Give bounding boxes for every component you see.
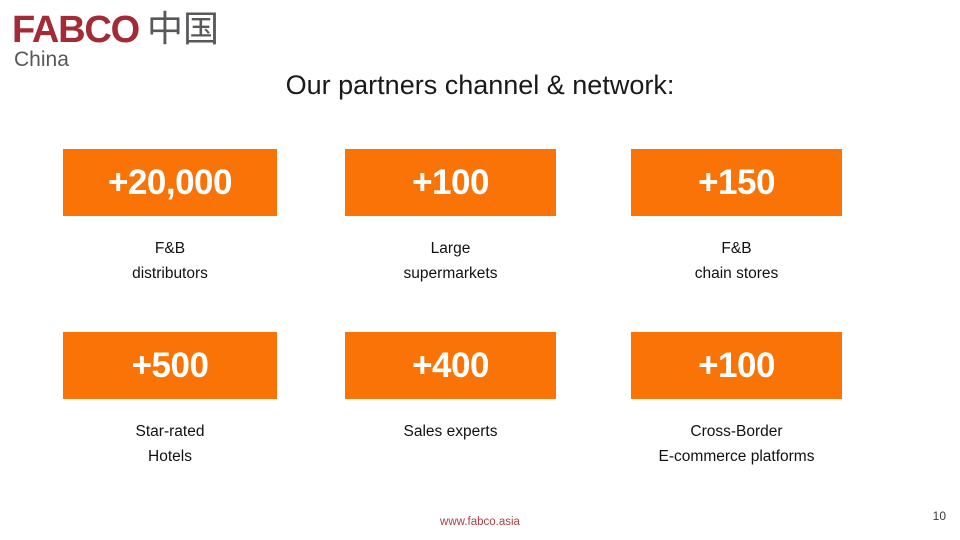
stat-value: +400: [412, 348, 489, 383]
slide-title: Our partners channel & network:: [0, 68, 960, 102]
stat-value: +150: [698, 165, 775, 200]
stat-value-box: +100: [631, 332, 842, 399]
logo-primary-row: FABCO 中国: [12, 10, 242, 50]
stat-value-box: +100: [345, 149, 556, 216]
footer-website-url[interactable]: www.fabco.asia: [0, 515, 960, 529]
stat-card: +400 Sales experts: [345, 332, 556, 444]
stat-card: +20,000 F&B distributors: [63, 149, 277, 286]
stat-value: +100: [698, 348, 775, 383]
stat-value: +20,000: [108, 165, 232, 200]
stat-label: Cross-Border E-commerce platforms: [631, 419, 842, 469]
stat-label: F&B distributors: [63, 236, 277, 286]
stat-card: +100 Cross-Border E-commerce platforms: [631, 332, 842, 469]
logo-chinese-characters: 中国: [147, 12, 219, 48]
stat-value-box: +400: [345, 332, 556, 399]
logo-wordmark: FABCO: [12, 11, 139, 49]
stats-row: +500 Star-rated Hotels +400 Sales expert…: [0, 332, 960, 515]
stat-label: Sales experts: [345, 419, 556, 444]
stats-row: +20,000 F&B distributors +100 Large supe…: [0, 149, 960, 332]
stat-card: +150 F&B chain stores: [631, 149, 842, 286]
stat-label: Large supermarkets: [345, 236, 556, 286]
stat-card: +100 Large supermarkets: [345, 149, 556, 286]
stat-value-box: +150: [631, 149, 842, 216]
stat-value: +100: [412, 165, 489, 200]
stat-label: Star-rated Hotels: [63, 419, 277, 469]
stats-grid: +20,000 F&B distributors +100 Large supe…: [0, 149, 960, 515]
stat-label: F&B chain stores: [631, 236, 842, 286]
stat-value-box: +20,000: [63, 149, 277, 216]
slide-page-number: 10: [933, 509, 946, 523]
stat-card: +500 Star-rated Hotels: [63, 332, 277, 469]
stat-value: +500: [132, 348, 209, 383]
fabco-logo: FABCO 中国 China: [12, 10, 242, 72]
stat-value-box: +500: [63, 332, 277, 399]
